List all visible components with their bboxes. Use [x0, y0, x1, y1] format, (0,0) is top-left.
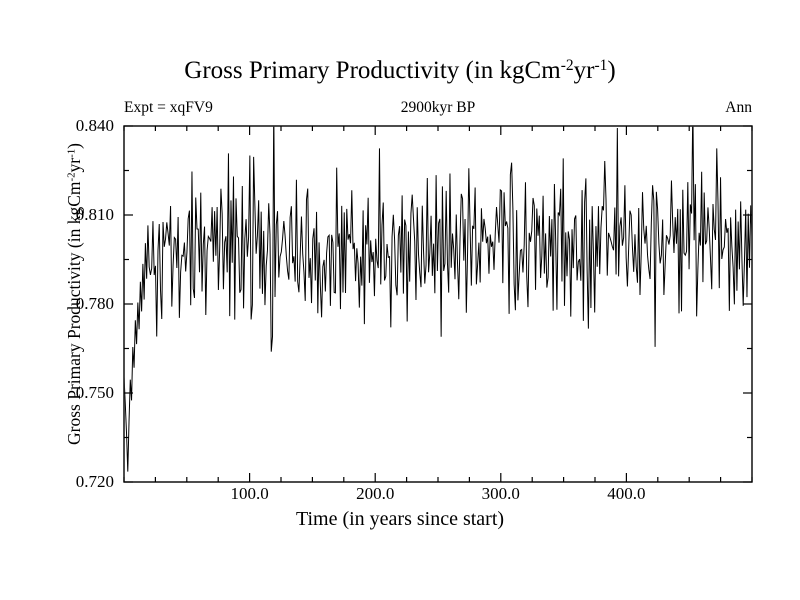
x-axis-label: Time (in years since start): [0, 508, 800, 531]
chart-title-mid: yr: [574, 57, 595, 84]
y-axis-label-mid: yr: [64, 158, 84, 173]
axes-frame: [124, 126, 752, 482]
y-tick-label: 0.840: [44, 116, 114, 136]
y-tick-label: 0.720: [44, 472, 114, 492]
y-tick-label: 0.750: [44, 383, 114, 403]
chart-title-tail: ): [607, 57, 615, 84]
y-axis-label-tail: ): [64, 143, 84, 149]
x-tick-label: 100.0: [210, 484, 290, 504]
chart-title-main: Gross Primary Productivity (in kgCm: [184, 57, 560, 84]
y-axis-label-sup-area: -2: [65, 172, 77, 181]
x-tick-label: 200.0: [335, 484, 415, 504]
y-axis-label-sup-time: -1: [65, 149, 77, 158]
averaging-label: Ann: [725, 98, 752, 118]
y-tick-label: 0.780: [44, 294, 114, 314]
chart-title-sup-time: -1: [594, 57, 607, 74]
gpp-data-line: [124, 105, 752, 472]
gpp-timeseries-figure: Gross Primary Productivity (in kgCm-2yr-…: [0, 0, 800, 600]
tick-marks: [124, 126, 752, 482]
chart-title-sup-area: -2: [561, 57, 574, 74]
chart-title: Gross Primary Productivity (in kgCm-2yr-…: [0, 56, 800, 86]
subtitle-row: Expt = xqFV9 2900kyr BP Ann: [124, 98, 752, 120]
x-tick-label: 300.0: [461, 484, 541, 504]
x-tick-label: 400.0: [586, 484, 666, 504]
y-tick-label: 0.810: [44, 205, 114, 225]
period-label: 2900kyr BP: [124, 98, 752, 118]
